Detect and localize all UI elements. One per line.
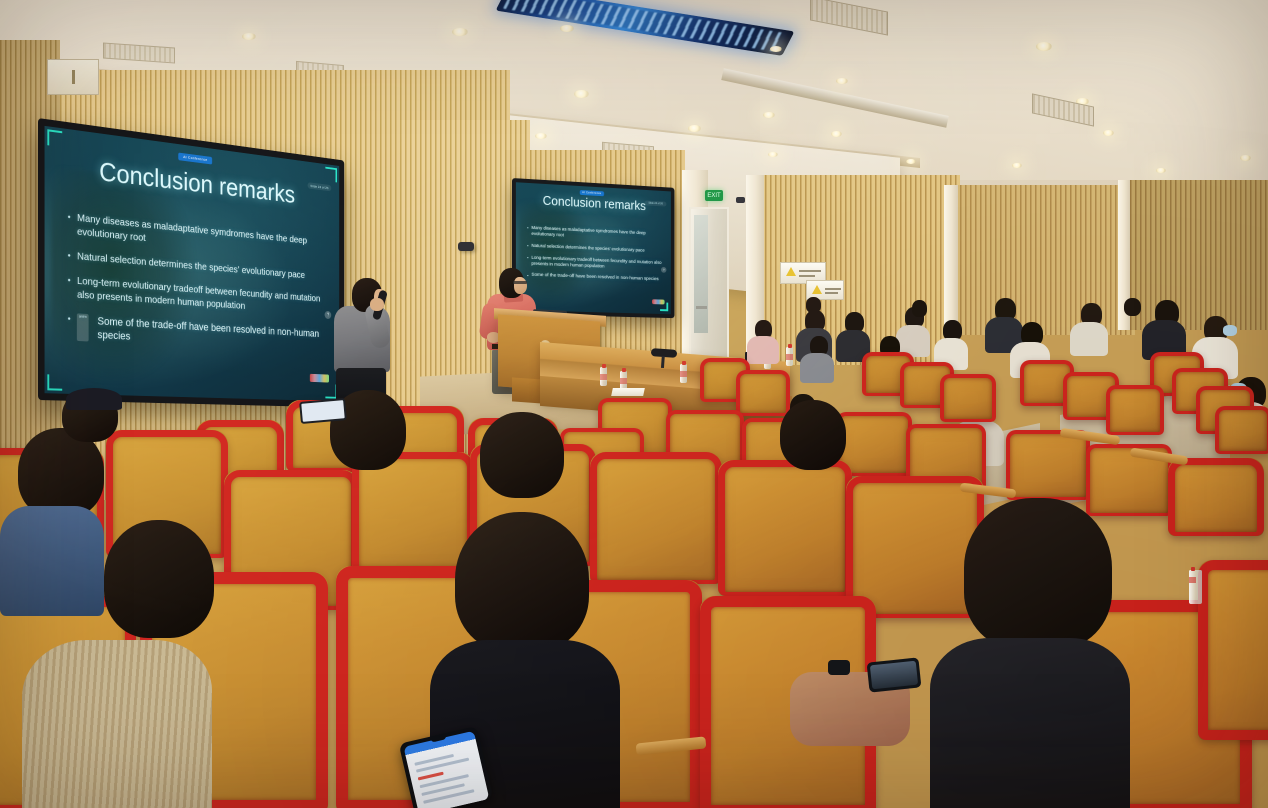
wristwatch — [828, 660, 850, 675]
seat[interactable] — [1215, 406, 1268, 454]
slide-bullet-text: Natural selection determines the species… — [531, 243, 644, 254]
bullet-dot-icon: • — [527, 272, 528, 278]
audience-torso — [747, 336, 779, 364]
downlight-icon — [574, 90, 589, 98]
far-wall-slat-panel — [1125, 180, 1268, 330]
tablet-device[interactable] — [299, 398, 347, 424]
attendee-head — [480, 412, 564, 498]
exit-sign: EXIT — [705, 190, 723, 201]
seat[interactable] — [1106, 385, 1164, 435]
slide-bullet-item: • anim Some of the trade-off have been r… — [68, 313, 329, 354]
audience-torso — [1070, 322, 1108, 356]
attendee-torso — [930, 638, 1130, 808]
seat[interactable] — [718, 460, 852, 596]
slide-animation-chip: anim — [77, 314, 88, 342]
slide-bullet-text: Long-term evolutionary tradeoff between … — [531, 255, 665, 272]
audience-head — [806, 297, 821, 313]
seat[interactable] — [1198, 560, 1268, 740]
screen-corner-marker — [47, 374, 62, 390]
slide-page-indicator: Slide 24 of 26 — [307, 182, 331, 191]
wall-pillar — [944, 185, 958, 335]
slide-conference-badge: AI Conference — [178, 152, 212, 164]
seat[interactable] — [352, 452, 474, 572]
sign-text-line — [825, 292, 838, 294]
lecture-hall-photo: EXIT AI Conference Slide 24 of 26 Conclu… — [0, 0, 1268, 808]
downlight-icon — [770, 46, 782, 52]
face-mask-icon — [1223, 325, 1237, 336]
slide-help-button[interactable]: ? — [325, 311, 332, 319]
audience-torso — [800, 353, 834, 383]
slide-bullet-item: • Some of the trade-off have been resolv… — [527, 272, 665, 283]
table-paper — [611, 388, 645, 396]
seat[interactable] — [736, 370, 790, 416]
right-wall-slat-panel-c — [955, 185, 1135, 335]
attendee-torso — [0, 506, 104, 616]
slide-bullet-list: • Many diseases as maladaptative symdrom… — [68, 211, 329, 364]
slide-canvas-secondary: AI Conference Slide 24 of 26 Conclusion … — [516, 182, 671, 314]
water-bottle — [600, 367, 607, 386]
slide-bullet-item: • Many diseases as maladaptative symdrom… — [527, 225, 665, 243]
slide-bullet-item: • Long-term evolutionary tradeoff betwee… — [527, 254, 665, 271]
bullet-dot-icon: • — [68, 275, 71, 302]
service-access-hatch — [47, 59, 99, 95]
slide-bullet-text: Many diseases as maladaptative symdromes… — [531, 225, 665, 243]
bullet-dot-icon: • — [68, 211, 71, 238]
attendee-head — [780, 400, 846, 470]
downlight-icon — [763, 112, 775, 118]
downlight-icon — [688, 125, 701, 132]
downlight-icon — [452, 28, 468, 36]
phone-list-row-highlight — [418, 772, 444, 780]
downlight-icon — [906, 159, 916, 164]
downlight-icon — [768, 152, 778, 157]
bullet-dot-icon: • — [68, 250, 71, 264]
door-handle[interactable] — [696, 306, 707, 309]
sign-text-line — [799, 270, 821, 272]
bullet-dot-icon: • — [527, 225, 528, 237]
downlight-icon — [535, 133, 547, 139]
slide-color-palette-strip — [310, 373, 329, 382]
ceiling-camera-icon — [736, 197, 745, 203]
sign-text-line — [799, 275, 815, 277]
slide-title: Conclusion remarks — [543, 194, 646, 213]
smartphone-secondary[interactable] — [867, 657, 922, 692]
screen-corner-marker — [660, 302, 668, 311]
seat[interactable] — [1006, 430, 1090, 500]
attendee-head — [455, 512, 589, 652]
desk-microphone-icon — [651, 348, 677, 358]
ceiling-camera-icon — [458, 242, 474, 251]
secondary-projection-screen[interactable]: AI Conference Slide 24 of 26 Conclusion … — [512, 178, 674, 318]
slide-bullet-text: Long-term evolutionary tradeoff between … — [77, 275, 329, 318]
slide-bullet-list: • Many diseases as maladaptative symdrom… — [527, 225, 665, 289]
warning-triangle-icon — [812, 285, 822, 294]
screen-corner-marker — [47, 129, 62, 147]
slide-canvas: AI Conference Slide 24 of 26 Conclusion … — [45, 126, 340, 401]
water-bottle — [680, 364, 687, 383]
bullet-dot-icon: • — [68, 313, 71, 341]
attendee-head — [104, 520, 214, 638]
slide-bullet-item: • Long-term evolutionary tradeoff betwee… — [68, 275, 329, 319]
downlight-icon — [1240, 155, 1251, 161]
audience-head — [1124, 298, 1141, 316]
downlight-icon — [242, 33, 256, 40]
glasses-icon — [513, 281, 527, 284]
speaker-face — [514, 277, 527, 294]
attendee-striped-shirt — [22, 640, 212, 808]
slide-help-button[interactable]: ? — [661, 267, 666, 273]
warning-triangle-icon — [786, 267, 796, 276]
water-bottle — [786, 347, 793, 366]
downlight-icon — [1156, 168, 1166, 173]
bullet-dot-icon: • — [527, 254, 528, 266]
exit-sign-label: EXIT — [707, 193, 720, 199]
seat[interactable] — [590, 452, 722, 584]
downlight-icon — [560, 25, 574, 32]
audience-head — [912, 300, 927, 317]
screen-corner-marker — [325, 167, 337, 183]
slide-bullet-item: • Natural selection determines the speci… — [527, 243, 665, 255]
phone-screen[interactable] — [403, 731, 489, 808]
main-projection-screen[interactable]: AI Conference Slide 24 of 26 Conclusion … — [38, 118, 344, 408]
downlight-icon — [1103, 130, 1114, 136]
seat[interactable] — [1168, 458, 1264, 536]
downlight-icon — [831, 131, 842, 137]
bullet-dot-icon: • — [527, 243, 528, 249]
slide-bullet-text: Some of the trade-off have been resolved… — [97, 315, 328, 354]
water-bottle — [1189, 570, 1202, 604]
slide-page-indicator: Slide 24 of 26 — [645, 200, 667, 206]
downlight-icon — [1012, 163, 1022, 168]
assistant-hand — [370, 298, 384, 311]
door-glass-panel — [694, 215, 708, 333]
attendee-head — [964, 498, 1112, 650]
attendee-cap — [66, 388, 122, 410]
sign-text-line — [825, 288, 841, 290]
seat[interactable] — [940, 374, 996, 422]
slide-title: Conclusion remarks — [99, 157, 295, 210]
downlight-icon — [1036, 42, 1052, 51]
downlight-icon — [836, 78, 848, 84]
slide-bullet-text: Some of the trade-off have been resolved… — [531, 272, 658, 283]
